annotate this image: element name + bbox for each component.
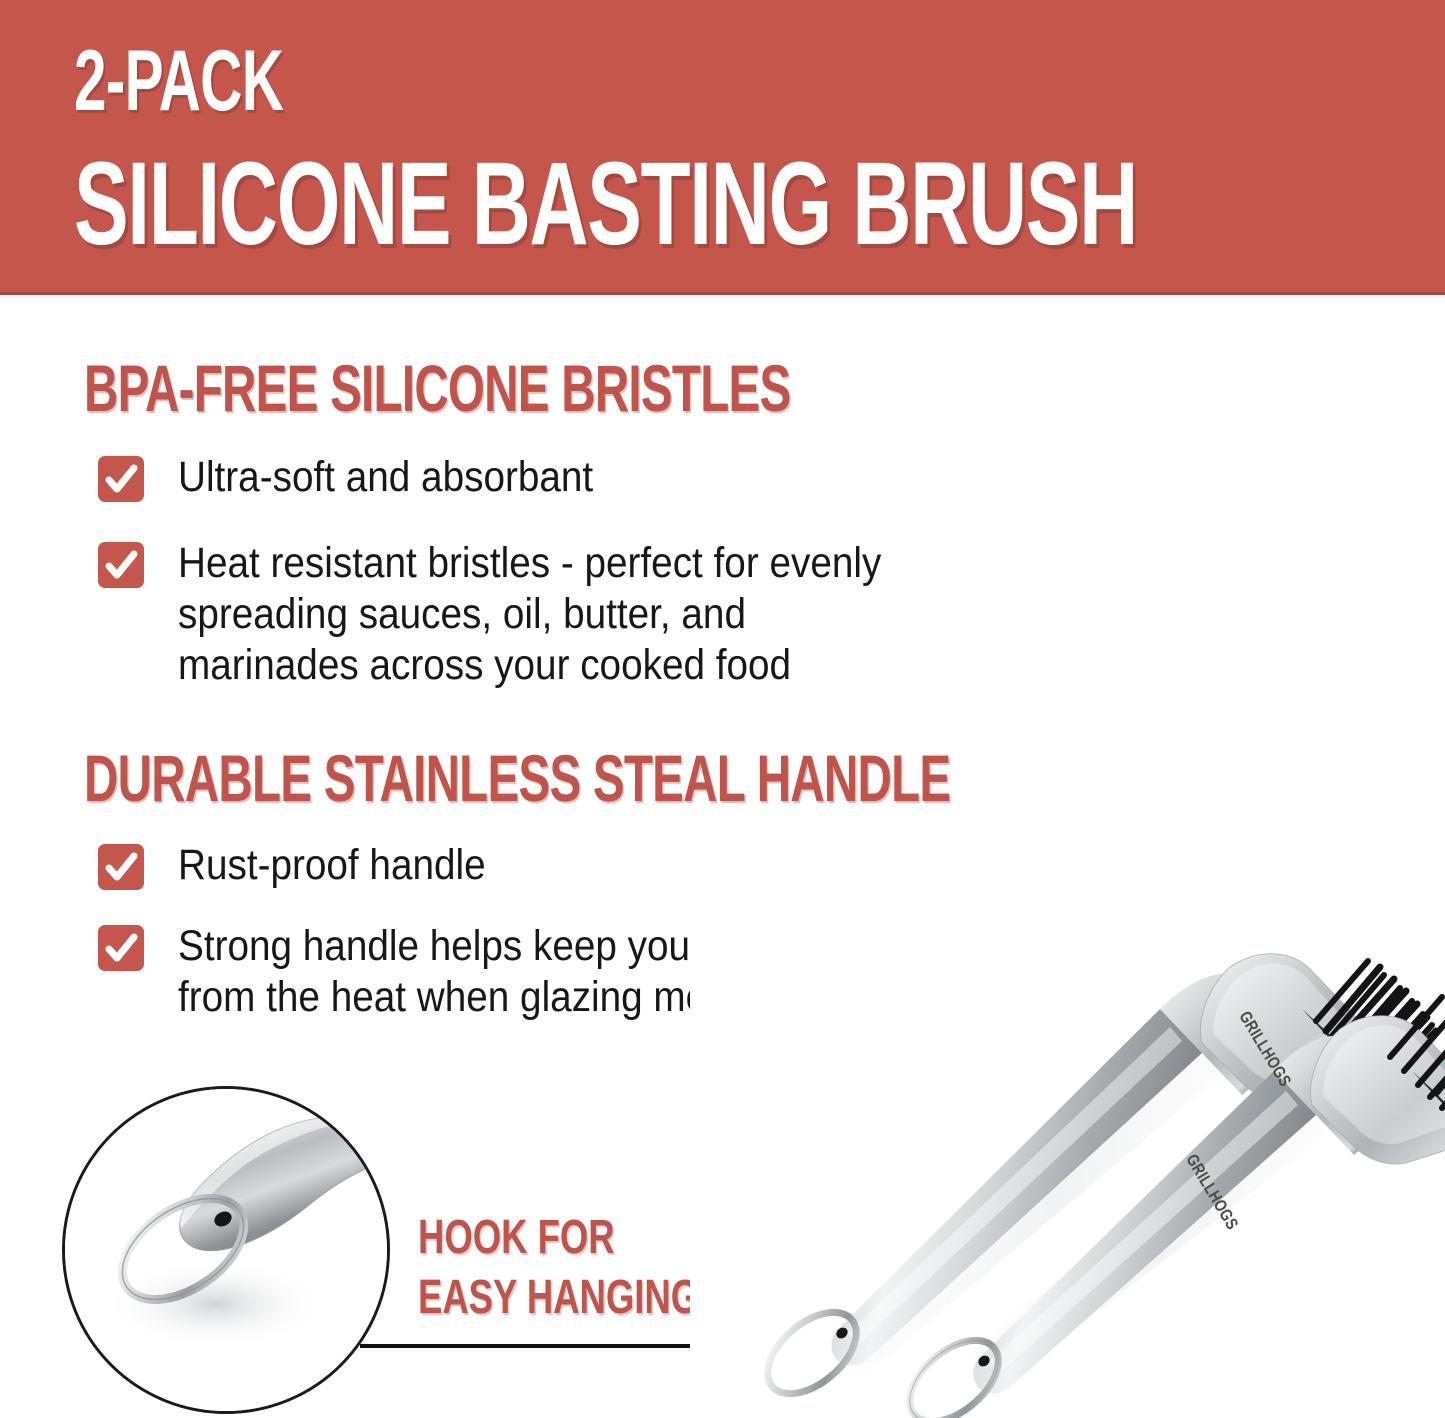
pack-count-label: 2-PACK	[74, 38, 283, 124]
hook-detail-callout	[62, 1086, 390, 1414]
check-icon	[98, 456, 144, 502]
section-heading-handle: DURABLE STAINLESS STEAL HANDLE	[84, 745, 950, 811]
feature-bullet-text: Rust-proof handle	[178, 840, 486, 891]
feature-bullet-text: Heat resistant bristles - perfect for ev…	[178, 538, 881, 691]
section-heading-bristles: BPA-FREE SILICONE BRISTLES	[84, 355, 790, 421]
feature-bullet: Ultra-soft and absorbant	[98, 452, 639, 503]
product-title: SILICONE BASTING BRUSH	[74, 145, 1137, 263]
check-icon	[98, 844, 144, 890]
check-icon	[98, 925, 144, 971]
product-image	[690, 905, 1445, 1418]
hook-callout-label: HOOK FOR EASY HANGING!	[418, 1208, 711, 1328]
product-infographic: 2-PACK SILICONE BASTING BRUSH BPA-FREE S…	[0, 0, 1445, 1418]
feature-bullet: Heat resistant bristles - perfect for ev…	[98, 538, 959, 691]
feature-bullet: Rust-proof handle	[98, 840, 520, 891]
header-banner: 2-PACK SILICONE BASTING BRUSH	[0, 0, 1445, 295]
check-icon	[98, 542, 144, 588]
feature-bullet-text: Ultra-soft and absorbant	[178, 452, 593, 503]
callout-connector-line	[360, 1344, 730, 1348]
